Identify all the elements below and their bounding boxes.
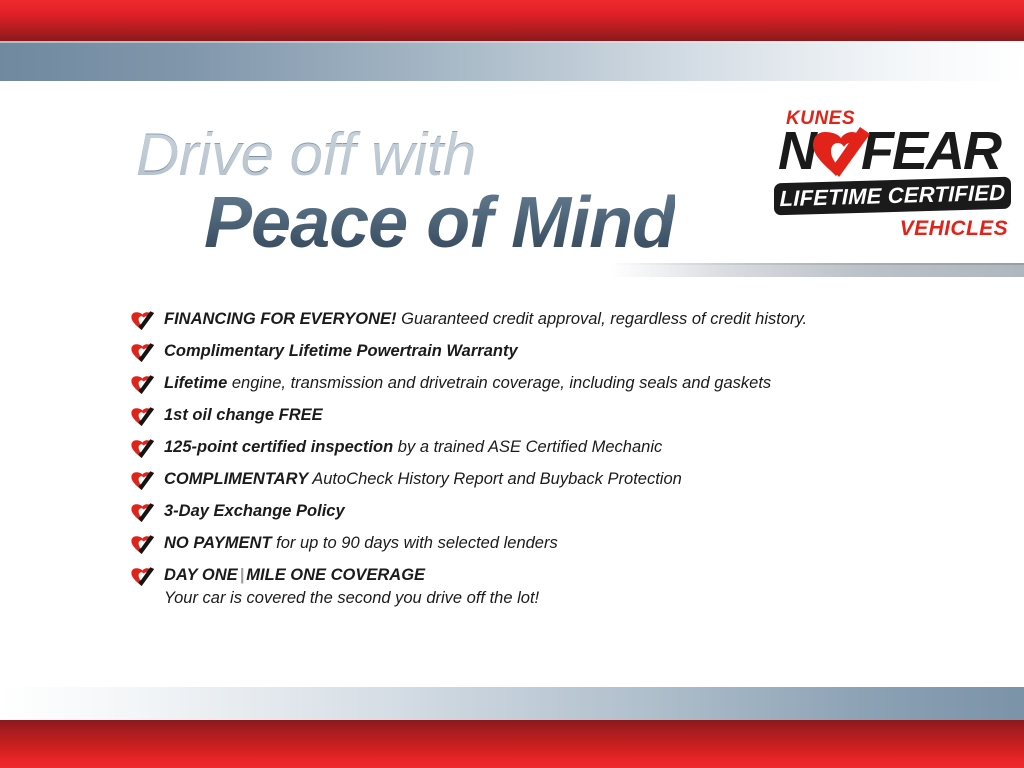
list-item-subtext: Your car is covered the second you drive… [164, 587, 971, 609]
heart-check-icon [131, 375, 155, 397]
page-title: Drive off with Peace of Mind [136, 126, 675, 257]
list-item: 1st oil change FREE [131, 404, 971, 435]
logo-vehicles-text: VEHICLES [900, 217, 1008, 241]
list-item: COMPLIMENTARY AutoCheck History Report a… [131, 468, 971, 499]
list-item: FINANCING FOR EVERYONE! Guaranteed credi… [131, 308, 971, 339]
heart-check-icon [812, 126, 874, 188]
bottom-red-band [0, 720, 1024, 768]
list-item-separator: | [238, 566, 247, 584]
logo-fear-letters: FEAR [861, 121, 1000, 181]
list-item: NO PAYMENT for up to 90 days with select… [131, 532, 971, 563]
list-item-text: 125-point certified inspection by a trai… [164, 436, 971, 458]
heart-check-icon [131, 535, 155, 557]
top-red-band [0, 0, 1024, 41]
bottom-grey-band [0, 687, 1024, 720]
list-item: Complimentary Lifetime Powertrain Warran… [131, 340, 971, 371]
list-item: 3-Day Exchange Policy [131, 500, 971, 531]
list-item: 125-point certified inspection by a trai… [131, 436, 971, 467]
heart-check-icon [131, 439, 155, 461]
logo-n-letter: N [778, 121, 815, 181]
list-item-rest: AutoCheck History Report and Buyback Pro… [308, 470, 682, 488]
list-item-lead: COMPLIMENTARY [164, 470, 308, 488]
list-item-lead-a: DAY ONE [164, 566, 238, 584]
heart-check-icon [131, 311, 155, 333]
heart-check-icon [131, 567, 155, 589]
feature-list: FINANCING FOR EVERYONE! Guaranteed credi… [131, 308, 971, 611]
list-item-rest: for up to 90 days with selected lenders [272, 534, 558, 552]
logo-certified-text: LIFETIME CERTIFIED [774, 177, 1011, 216]
list-item-rest: by a trained ASE Certified Mechanic [393, 438, 662, 456]
list-item-lead: 1st oil change FREE [164, 406, 323, 424]
header-divider [610, 263, 1024, 277]
headline-line-2: Peace of Mind [204, 189, 675, 257]
list-item-text: Lifetime engine, transmission and drivet… [164, 372, 971, 394]
heart-check-icon [131, 343, 155, 365]
heart-check-icon [131, 503, 155, 525]
list-item-text: COMPLIMENTARY AutoCheck History Report a… [164, 468, 971, 490]
list-item-text: DAY ONE|MILE ONE COVERAGE [164, 564, 971, 586]
list-item: DAY ONE|MILE ONE COVERAGE Your car is co… [131, 564, 971, 610]
heart-check-icon [131, 407, 155, 429]
list-item: Lifetime engine, transmission and drivet… [131, 372, 971, 403]
list-item-text: FINANCING FOR EVERYONE! Guaranteed credi… [164, 308, 971, 330]
list-item-lead: Lifetime [164, 374, 227, 392]
heart-check-icon [131, 471, 155, 493]
top-grey-band [0, 41, 1024, 81]
list-item-text: 1st oil change FREE [164, 404, 971, 426]
list-item-lead: Complimentary Lifetime Powertrain Warran… [164, 342, 518, 360]
list-item-text: 3-Day Exchange Policy [164, 500, 971, 522]
list-item-rest: engine, transmission and drivetrain cove… [227, 374, 771, 392]
list-item-rest: Guaranteed credit approval, regardless o… [397, 310, 808, 328]
list-item-lead-b: MILE ONE COVERAGE [246, 566, 425, 584]
list-item-lead: FINANCING FOR EVERYONE! [164, 310, 397, 328]
list-item-lead: 125-point certified inspection [164, 438, 393, 456]
kunes-no-fear-logo: KUNES NFEAR LIFETIME CERTIFIED VEHICLES [774, 108, 1014, 248]
list-item-text: Complimentary Lifetime Powertrain Warran… [164, 340, 971, 362]
list-item-lead: NO PAYMENT [164, 534, 272, 552]
list-item-text: NO PAYMENT for up to 90 days with select… [164, 532, 971, 554]
poster-canvas: Drive off with Peace of Mind KUNES NFEAR… [0, 0, 1024, 768]
list-item-lead: 3-Day Exchange Policy [164, 502, 345, 520]
headline-line-1: Drive off with [136, 126, 675, 183]
